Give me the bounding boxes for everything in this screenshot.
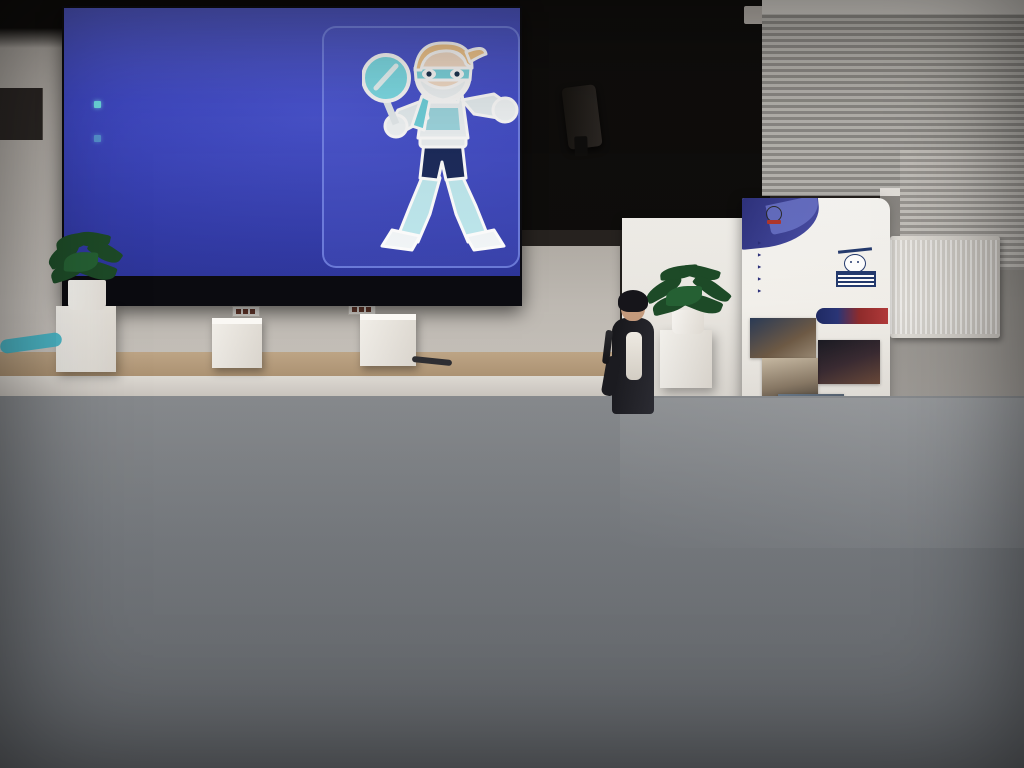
foundation-logo-icon: [766, 206, 782, 222]
rollup-banner: [742, 198, 890, 428]
wall-outlet: [232, 306, 260, 317]
banner-photo: [750, 318, 816, 358]
agent-character-illustration: [362, 38, 520, 258]
banner-photo: [818, 340, 880, 384]
planter-cube-right: [660, 330, 712, 388]
auditorium-photo-scene: [0, 0, 1024, 768]
acoustic-panel-wall: [520, 0, 770, 230]
agent-character-svg: [362, 38, 520, 258]
flower-pot-left: [68, 280, 106, 310]
graduate-mascot-icon: [834, 246, 878, 294]
presentation-slide: [64, 8, 520, 276]
free-classes-ribbon: [816, 308, 888, 324]
planter-cube-left: [56, 306, 116, 372]
flower-pot-right: [672, 310, 704, 334]
presenter-hair: [618, 290, 648, 312]
left-wall-panel: [0, 88, 43, 140]
floor-reflection: [620, 398, 1024, 548]
stage-cube-stool-2: [360, 314, 416, 366]
bullet-marker-icon: [94, 135, 101, 142]
banner-list-item: [758, 276, 764, 281]
banner-list-item: [758, 240, 764, 245]
banner-list-item: [758, 252, 764, 257]
blinds-headrail: [762, 0, 1024, 14]
panel-radiator: [890, 236, 1000, 338]
banner-list-item: [758, 288, 764, 293]
stage-cube-stool-1: [212, 318, 262, 368]
banner-list-item: [758, 264, 764, 269]
presenter-top: [626, 332, 642, 380]
bullet-marker-icon: [94, 101, 101, 108]
